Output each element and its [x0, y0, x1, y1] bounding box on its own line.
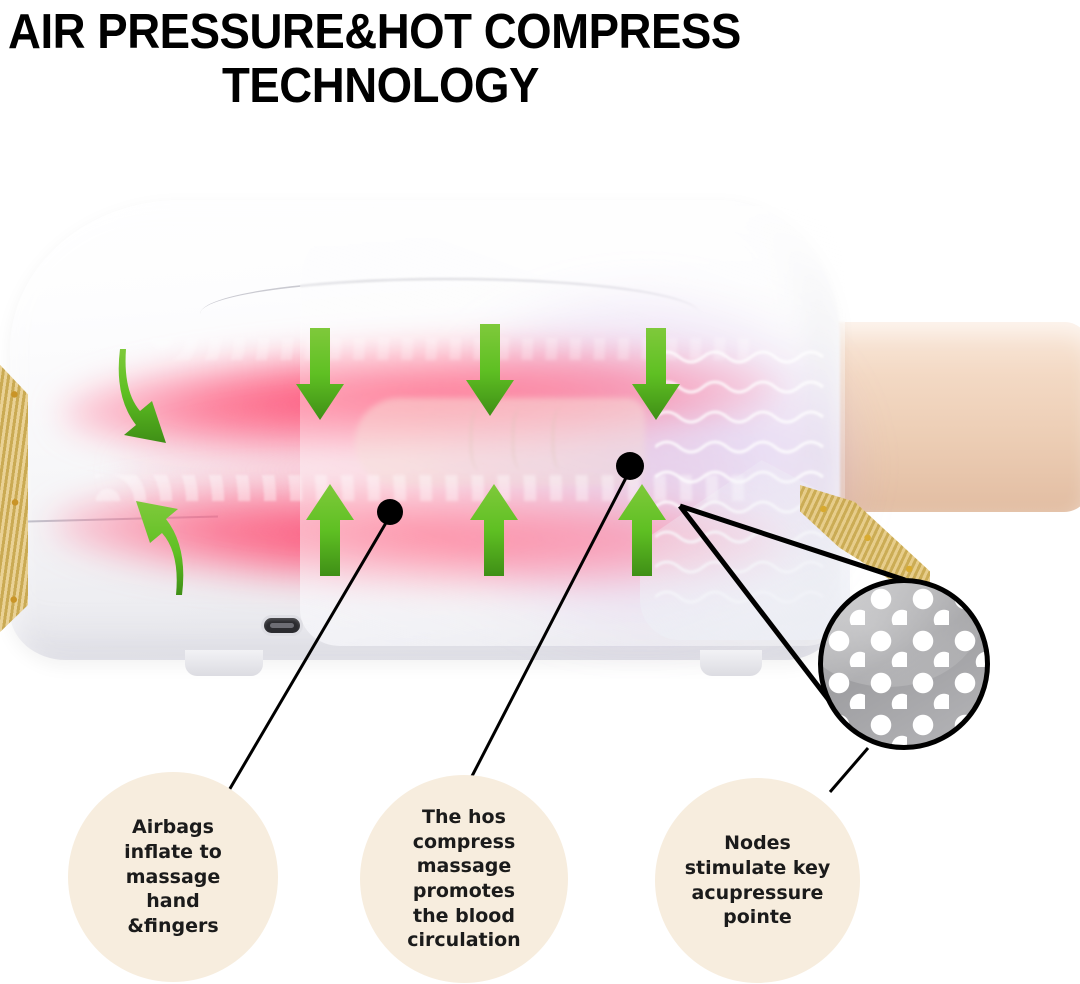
air-pressure-arrow-down [292, 326, 348, 422]
device-foot [700, 650, 762, 676]
callout-airbags-text: Airbags inflate to massage hand &fingers [110, 815, 236, 938]
gold-edge-strip [0, 362, 28, 632]
callout-hot-compress-text: The hos compress massage promotes the bl… [393, 805, 534, 953]
air-pressure-arrow-down [628, 326, 684, 422]
node-closeup-magnifier [818, 578, 990, 750]
infographic-canvas: AIR PRESSURE&HOT COMPRESS TECHNOLOGY [0, 0, 1080, 984]
title-line-1: AIR PRESSURE&HOT COMPRESS [8, 8, 741, 57]
callout-nodes-text: Nodes stimulate key acupressure pointe [671, 831, 845, 930]
callout-nodes[interactable]: Nodes stimulate key acupressure pointe [655, 778, 860, 983]
title-line-2: TECHNOLOGY [222, 62, 539, 111]
usb-c-port-icon [264, 618, 300, 633]
callout-hot-compress[interactable]: The hos compress massage promotes the bl… [360, 775, 568, 983]
air-pressure-arrow-up [466, 482, 522, 578]
air-pressure-arrow-up [132, 489, 196, 599]
callout-airbags[interactable]: Airbags inflate to massage hand &fingers [68, 772, 278, 982]
air-pressure-arrow-down [462, 322, 518, 418]
air-pressure-arrow-up [614, 482, 670, 578]
device-foot [185, 650, 263, 676]
air-pressure-arrow-up [302, 482, 358, 578]
air-pressure-arrow-down [118, 345, 182, 455]
magnifier-gloss [818, 578, 983, 687]
leader-line-nodes [830, 748, 868, 792]
